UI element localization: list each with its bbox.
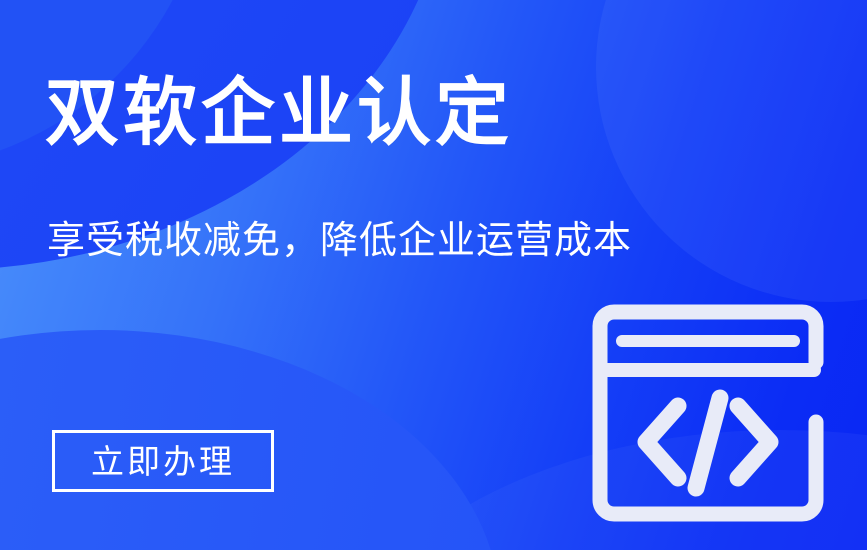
promo-banner: 双软企业认定 享受税收减免，降低企业运营成本 立即办理 [0, 0, 867, 550]
code-window-icon-svg [588, 300, 828, 528]
angle-bracket-right-icon [738, 406, 770, 478]
banner-subheadline: 享受税收减免，降低企业运营成本 [47, 218, 632, 266]
banner-headline: 双软企业认定 [45, 76, 513, 150]
banner-content: 双软企业认定 享受税收减免，降低企业运营成本 立即办理 [0, 0, 867, 550]
code-window-icon [588, 300, 828, 528]
angle-bracket-left-icon [646, 406, 678, 478]
apply-now-button[interactable]: 立即办理 [52, 430, 274, 492]
slash-icon [696, 398, 720, 488]
